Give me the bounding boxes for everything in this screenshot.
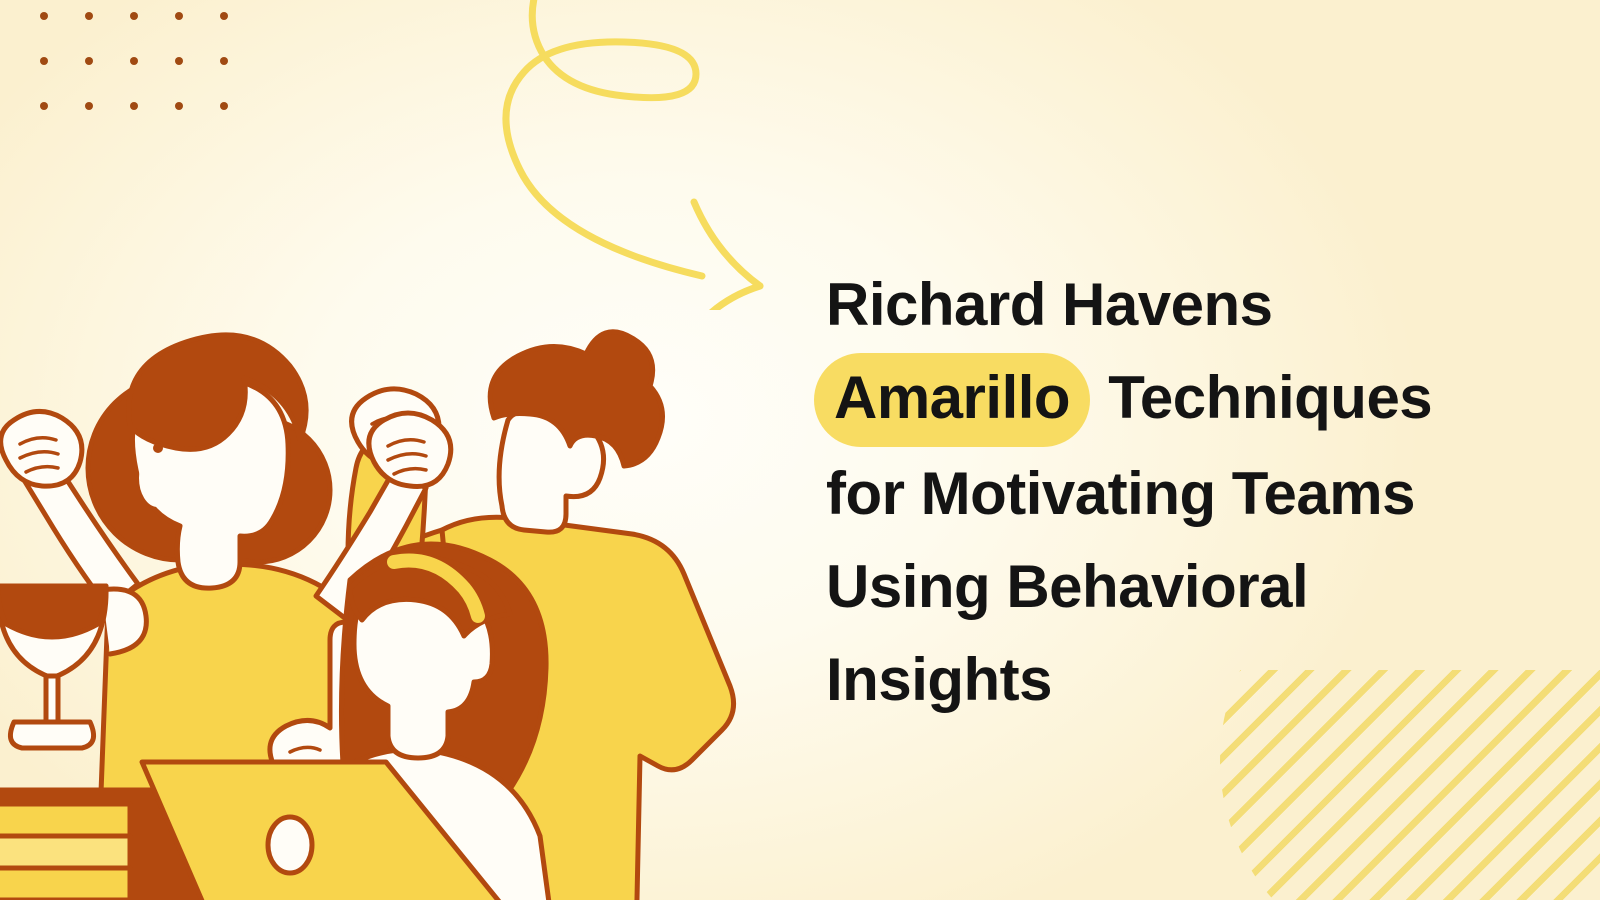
- headline-line-2: Amarillo Techniques: [826, 351, 1566, 447]
- book-stack: [0, 804, 130, 900]
- banner-canvas: Richard HavensAmarillo Techniquesfor Mot…: [0, 0, 1600, 900]
- grid-dot: [85, 12, 93, 20]
- grid-dot: [85, 57, 93, 65]
- headline-text: Insights: [826, 646, 1052, 713]
- headline-line-4: Using Behavioral: [826, 540, 1566, 633]
- grid-dot: [175, 57, 183, 65]
- headline-line-3: for Motivating Teams: [826, 447, 1566, 540]
- grid-dot: [40, 57, 48, 65]
- grid-dot: [130, 57, 138, 65]
- grid-dot: [220, 12, 228, 20]
- grid-dot: [40, 102, 48, 110]
- grid-dot: [40, 12, 48, 20]
- grid-dot: [130, 102, 138, 110]
- grid-dot: [220, 102, 228, 110]
- grid-dot: [220, 57, 228, 65]
- headline-text: Techniques: [1092, 364, 1432, 431]
- headline-text: Using Behavioral: [826, 553, 1308, 620]
- headline-text: for Motivating Teams: [826, 460, 1415, 527]
- curved-arrow-icon: [480, 0, 810, 310]
- headline-line-1: Richard Havens: [826, 258, 1566, 351]
- grid-dot: [175, 102, 183, 110]
- headline-line-5: Insights: [826, 633, 1566, 726]
- page-title: Richard HavensAmarillo Techniquesfor Mot…: [826, 258, 1566, 726]
- dot-grid: [40, 12, 270, 142]
- grid-dot: [130, 12, 138, 20]
- cheering-team-illustration: [0, 300, 830, 900]
- headline-text: Richard Havens: [826, 271, 1273, 338]
- headline-highlight: Amarillo: [814, 353, 1090, 447]
- grid-dot: [85, 102, 93, 110]
- grid-dot: [175, 12, 183, 20]
